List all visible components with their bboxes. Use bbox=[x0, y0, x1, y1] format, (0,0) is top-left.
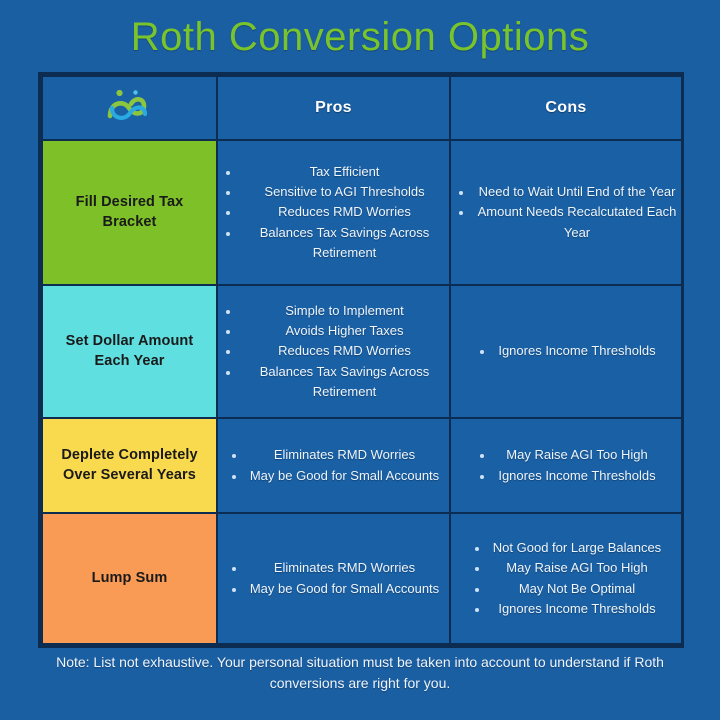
list-item: Ignores Income Thresholds bbox=[471, 599, 661, 619]
list-item: Avoids Higher Taxes bbox=[222, 321, 445, 341]
list-item: Need to Wait Until End of the Year bbox=[455, 182, 677, 202]
list-item: May Raise AGI Too High bbox=[471, 558, 661, 578]
infographic-page: Roth Conversion Options bbox=[0, 0, 720, 720]
pros-list: Simple to ImplementAvoids Higher TaxesRe… bbox=[222, 301, 445, 402]
list-item: Tax Efficient bbox=[222, 162, 445, 182]
roth-conversion-matrix: Pros Cons Fill Desired Tax BracketTax Ef… bbox=[41, 75, 683, 645]
pros-cell: Eliminates RMD WorriesMay be Good for Sm… bbox=[217, 418, 450, 513]
column-header-pros: Pros bbox=[217, 76, 450, 140]
cons-cell: Need to Wait Until End of the YearAmount… bbox=[450, 140, 682, 285]
list-item: Reduces RMD Worries bbox=[222, 341, 445, 361]
cons-cell: Not Good for Large BalancesMay Raise AGI… bbox=[450, 513, 682, 644]
pros-cell: Eliminates RMD WorriesMay be Good for Sm… bbox=[217, 513, 450, 644]
list-item: Ignores Income Thresholds bbox=[476, 466, 655, 486]
list-item: Eliminates RMD Worries bbox=[228, 445, 439, 465]
cons-list: May Raise AGI Too HighIgnores Income Thr… bbox=[476, 445, 655, 485]
pros-list: Eliminates RMD WorriesMay be Good for Sm… bbox=[228, 445, 439, 485]
list-item: May be Good for Small Accounts bbox=[228, 466, 439, 486]
list-item: Balances Tax Savings Across Retirement bbox=[222, 362, 445, 402]
pros-list: Eliminates RMD WorriesMay be Good for Sm… bbox=[228, 558, 439, 598]
table-row: Lump SumEliminates RMD WorriesMay be Goo… bbox=[42, 513, 682, 644]
comparison-table-container: Pros Cons Fill Desired Tax BracketTax Ef… bbox=[38, 72, 684, 648]
list-item: Not Good for Large Balances bbox=[471, 538, 661, 558]
strategy-label-cell: Lump Sum bbox=[42, 513, 217, 644]
table-row: Deplete Completely Over Several YearsEli… bbox=[42, 418, 682, 513]
strategy-label-cell: Fill Desired Tax Bracket bbox=[42, 140, 217, 285]
table-row: Fill Desired Tax BracketTax EfficientSen… bbox=[42, 140, 682, 285]
pros-cell: Tax EfficientSensitive to AGI Thresholds… bbox=[217, 140, 450, 285]
list-item: Sensitive to AGI Thresholds bbox=[222, 182, 445, 202]
list-item: May be Good for Small Accounts bbox=[228, 579, 439, 599]
cons-list: Need to Wait Until End of the YearAmount… bbox=[455, 182, 677, 242]
list-item: Amount Needs Recalcutated Each Year bbox=[455, 202, 677, 242]
list-item: May Raise AGI Too High bbox=[476, 445, 655, 465]
table-body: Fill Desired Tax BracketTax EfficientSen… bbox=[42, 140, 682, 644]
cons-list: Not Good for Large BalancesMay Raise AGI… bbox=[471, 538, 661, 619]
page-title: Roth Conversion Options bbox=[0, 0, 720, 62]
strategy-label-cell: Deplete Completely Over Several Years bbox=[42, 418, 217, 513]
infinity-swoosh-icon bbox=[104, 86, 150, 131]
brand-logo-cell bbox=[42, 76, 217, 140]
list-item: Ignores Income Thresholds bbox=[476, 341, 655, 361]
nextgen-wealth-logo bbox=[49, 81, 210, 135]
column-header-cons: Cons bbox=[450, 76, 682, 140]
list-item: Simple to Implement bbox=[222, 301, 445, 321]
footnote: Note: List not exhaustive. Your personal… bbox=[40, 652, 680, 694]
list-item: Balances Tax Savings Across Retirement bbox=[222, 223, 445, 263]
list-item: Reduces RMD Worries bbox=[222, 202, 445, 222]
cons-list: Ignores Income Thresholds bbox=[476, 341, 655, 361]
table-header-row: Pros Cons bbox=[42, 76, 682, 140]
pros-list: Tax EfficientSensitive to AGI Thresholds… bbox=[222, 162, 445, 263]
cons-cell: Ignores Income Thresholds bbox=[450, 285, 682, 418]
cons-cell: May Raise AGI Too HighIgnores Income Thr… bbox=[450, 418, 682, 513]
list-item: May Not Be Optimal bbox=[471, 579, 661, 599]
pros-cell: Simple to ImplementAvoids Higher TaxesRe… bbox=[217, 285, 450, 418]
list-item: Eliminates RMD Worries bbox=[228, 558, 439, 578]
table-row: Set Dollar Amount Each YearSimple to Imp… bbox=[42, 285, 682, 418]
strategy-label-cell: Set Dollar Amount Each Year bbox=[42, 285, 217, 418]
